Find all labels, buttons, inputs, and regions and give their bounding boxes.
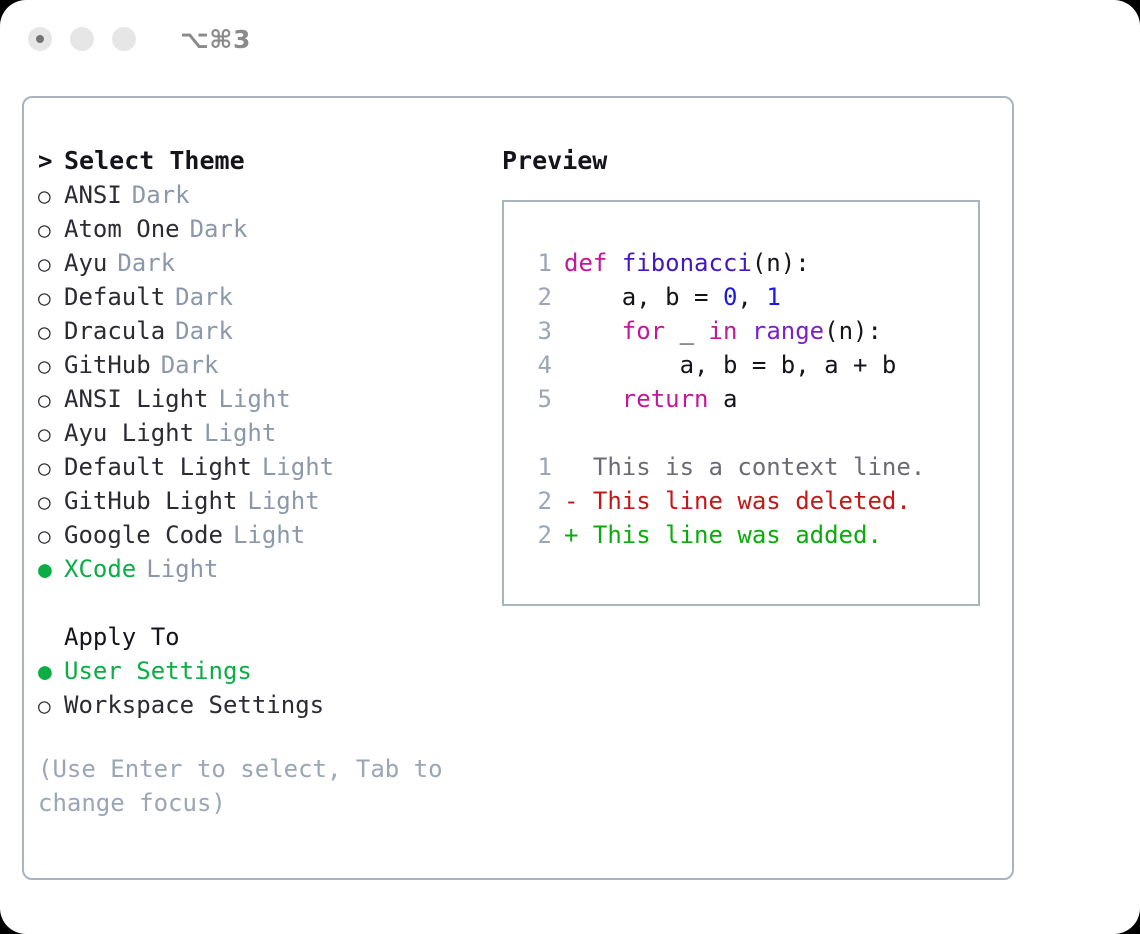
radio-unselected-icon[interactable]: ○ <box>38 213 64 247</box>
apply-to-option-label: User Settings <box>64 657 252 685</box>
preview-column: Preview 1def fibonacci(n):2 a, b = 0, 13… <box>502 144 1002 606</box>
theme-variant-badge: Light <box>219 385 291 413</box>
theme-name-label: ANSI <box>64 181 122 209</box>
theme-list-item[interactable]: ○ANSIDark <box>38 178 488 212</box>
code-token <box>607 249 621 277</box>
theme-picker-window: >Select Theme ○ANSIDark○Atom OneDark○Ayu… <box>22 96 1014 880</box>
code-token <box>737 317 751 345</box>
theme-list-column: >Select Theme ○ANSIDark○Atom OneDark○Ayu… <box>38 144 488 820</box>
code-line-number: 4 <box>526 348 552 382</box>
theme-variant-badge: Dark <box>161 351 219 379</box>
diff-line: 2- This line was deleted. <box>504 484 978 518</box>
theme-variant-badge: Dark <box>132 181 190 209</box>
code-token: fibonacci <box>622 249 752 277</box>
theme-name-label: ANSI Light <box>64 385 209 413</box>
theme-variant-badge: Light <box>204 419 276 447</box>
code-token: def <box>564 249 607 277</box>
code-line-number: 1 <box>526 246 552 280</box>
theme-name-label: Default Light <box>64 453 252 481</box>
theme-list-item[interactable]: ○AyuDark <box>38 246 488 280</box>
theme-name-label: Google Code <box>64 521 223 549</box>
diff-text: This line was added. <box>578 521 881 549</box>
theme-list-item[interactable]: ○GitHubDark <box>38 348 488 382</box>
code-token: _ <box>665 317 708 345</box>
app-page: ⌥⌘3 >Select Theme ○ANSIDark○Atom OneDark… <box>0 0 1140 934</box>
theme-list-item[interactable]: ○DraculaDark <box>38 314 488 348</box>
keyboard-shortcut-label: ⌥⌘3 <box>180 25 251 54</box>
select-theme-heading-label: Select Theme <box>64 146 245 175</box>
diff-sign: - <box>564 487 578 515</box>
diff-line-number: 2 <box>526 484 552 518</box>
code-diff-spacer <box>504 416 978 450</box>
theme-list-item[interactable]: ○Default LightLight <box>38 450 488 484</box>
theme-name-label: GitHub <box>64 351 151 379</box>
theme-list: ○ANSIDark○Atom OneDark○AyuDark○DefaultDa… <box>38 178 488 586</box>
apply-to-marker-spacer: ○ <box>38 621 64 655</box>
theme-variant-badge: Light <box>233 521 305 549</box>
diff-sign <box>564 453 578 481</box>
diff-line-number: 2 <box>526 518 552 552</box>
code-token: in <box>709 317 738 345</box>
code-sample: 1def fibonacci(n):2 a, b = 0, 13 for _ i… <box>504 246 978 416</box>
theme-name-label: Default <box>64 283 165 311</box>
code-token: a <box>709 385 738 413</box>
theme-list-item[interactable]: ○ANSI LightLight <box>38 382 488 416</box>
list-spacer <box>38 586 488 620</box>
apply-to-option[interactable]: ○Workspace Settings <box>38 688 488 722</box>
theme-name-label: GitHub Light <box>64 487 237 515</box>
radio-unselected-icon[interactable]: ○ <box>38 179 64 213</box>
code-token <box>564 385 622 413</box>
diff-sign: + <box>564 521 578 549</box>
theme-list-item[interactable]: ○Atom OneDark <box>38 212 488 246</box>
code-token: a, b = <box>564 283 723 311</box>
theme-list-item[interactable]: ●XCodeLight <box>38 552 488 586</box>
code-token <box>564 317 622 345</box>
apply-to-option[interactable]: ●User Settings <box>38 654 488 688</box>
window-titlebar: ⌥⌘3 <box>0 0 1140 78</box>
radio-unselected-icon[interactable]: ○ <box>38 383 64 417</box>
theme-variant-badge: Dark <box>175 283 233 311</box>
code-token: (n): <box>752 249 810 277</box>
theme-variant-badge: Light <box>146 555 218 583</box>
theme-list-item[interactable]: ○Ayu LightLight <box>38 416 488 450</box>
radio-unselected-icon[interactable]: ○ <box>38 247 64 281</box>
code-line-number: 5 <box>526 382 552 416</box>
radio-unselected-icon[interactable]: ○ <box>38 519 64 553</box>
code-line: 3 for _ in range(n): <box>504 314 978 348</box>
code-line: 1def fibonacci(n): <box>504 246 978 280</box>
code-token: 1 <box>766 283 780 311</box>
code-token: 0 <box>723 283 737 311</box>
prompt-caret-icon: > <box>38 144 64 178</box>
diff-line: 1 This is a context line. <box>504 450 978 484</box>
theme-name-label: Atom One <box>64 215 180 243</box>
theme-variant-badge: Light <box>262 453 334 481</box>
theme-list-item[interactable]: ○DefaultDark <box>38 280 488 314</box>
diff-line-number: 1 <box>526 450 552 484</box>
theme-variant-badge: Dark <box>175 317 233 345</box>
keyboard-hint-text: (Use Enter to select, Tab to change focu… <box>38 752 448 820</box>
select-theme-heading: >Select Theme <box>38 144 488 178</box>
radio-unselected-icon[interactable]: ○ <box>38 451 64 485</box>
window-dot-2-icon[interactable] <box>70 27 94 51</box>
preview-code-box: 1def fibonacci(n):2 a, b = 0, 13 for _ i… <box>502 200 980 606</box>
radio-selected-icon[interactable]: ● <box>38 655 64 689</box>
code-token: for <box>622 317 665 345</box>
theme-list-item[interactable]: ○GitHub LightLight <box>38 484 488 518</box>
radio-unselected-icon[interactable]: ○ <box>38 281 64 315</box>
apply-to-option-label: Workspace Settings <box>64 691 324 719</box>
apply-to-heading: ○Apply To <box>38 620 488 654</box>
radio-unselected-icon[interactable]: ○ <box>38 417 64 451</box>
code-token: range <box>752 317 824 345</box>
window-controls <box>28 27 136 51</box>
theme-name-label: Ayu Light <box>64 419 194 447</box>
radio-unselected-icon[interactable]: ○ <box>38 485 64 519</box>
code-token: a, b = b, a + b <box>564 351 896 379</box>
code-token: (n): <box>824 317 882 345</box>
window-dot-active-icon[interactable] <box>28 27 52 51</box>
theme-name-label: XCode <box>64 555 136 583</box>
theme-list-item[interactable]: ○Google CodeLight <box>38 518 488 552</box>
theme-variant-badge: Dark <box>117 249 175 277</box>
hint-spacer <box>38 722 488 752</box>
diff-text: This is a context line. <box>578 453 925 481</box>
code-line: 5 return a <box>504 382 978 416</box>
diff-text: This line was deleted. <box>578 487 910 515</box>
code-line: 4 a, b = b, a + b <box>504 348 978 382</box>
code-token: , <box>737 283 766 311</box>
radio-unselected-icon[interactable]: ○ <box>38 315 64 349</box>
apply-to-heading-label: Apply To <box>64 623 180 651</box>
radio-unselected-icon[interactable]: ○ <box>38 349 64 383</box>
code-line-number: 2 <box>526 280 552 314</box>
window-dot-3-icon[interactable] <box>112 27 136 51</box>
two-column-layout: >Select Theme ○ANSIDark○Atom OneDark○Ayu… <box>24 98 1012 878</box>
theme-name-label: Ayu <box>64 249 107 277</box>
code-token: return <box>622 385 709 413</box>
theme-variant-badge: Dark <box>190 215 248 243</box>
theme-variant-badge: Light <box>247 487 319 515</box>
diff-line: 2+ This line was added. <box>504 518 978 552</box>
theme-name-label: Dracula <box>64 317 165 345</box>
apply-to-options: ●User Settings○Workspace Settings <box>38 654 488 722</box>
code-line-number: 3 <box>526 314 552 348</box>
code-line: 2 a, b = 0, 1 <box>504 280 978 314</box>
diff-sample: 1 This is a context line.2- This line wa… <box>504 450 978 552</box>
radio-unselected-icon[interactable]: ○ <box>38 689 64 723</box>
radio-selected-icon[interactable]: ● <box>38 553 64 587</box>
preview-title: Preview <box>502 144 1002 178</box>
